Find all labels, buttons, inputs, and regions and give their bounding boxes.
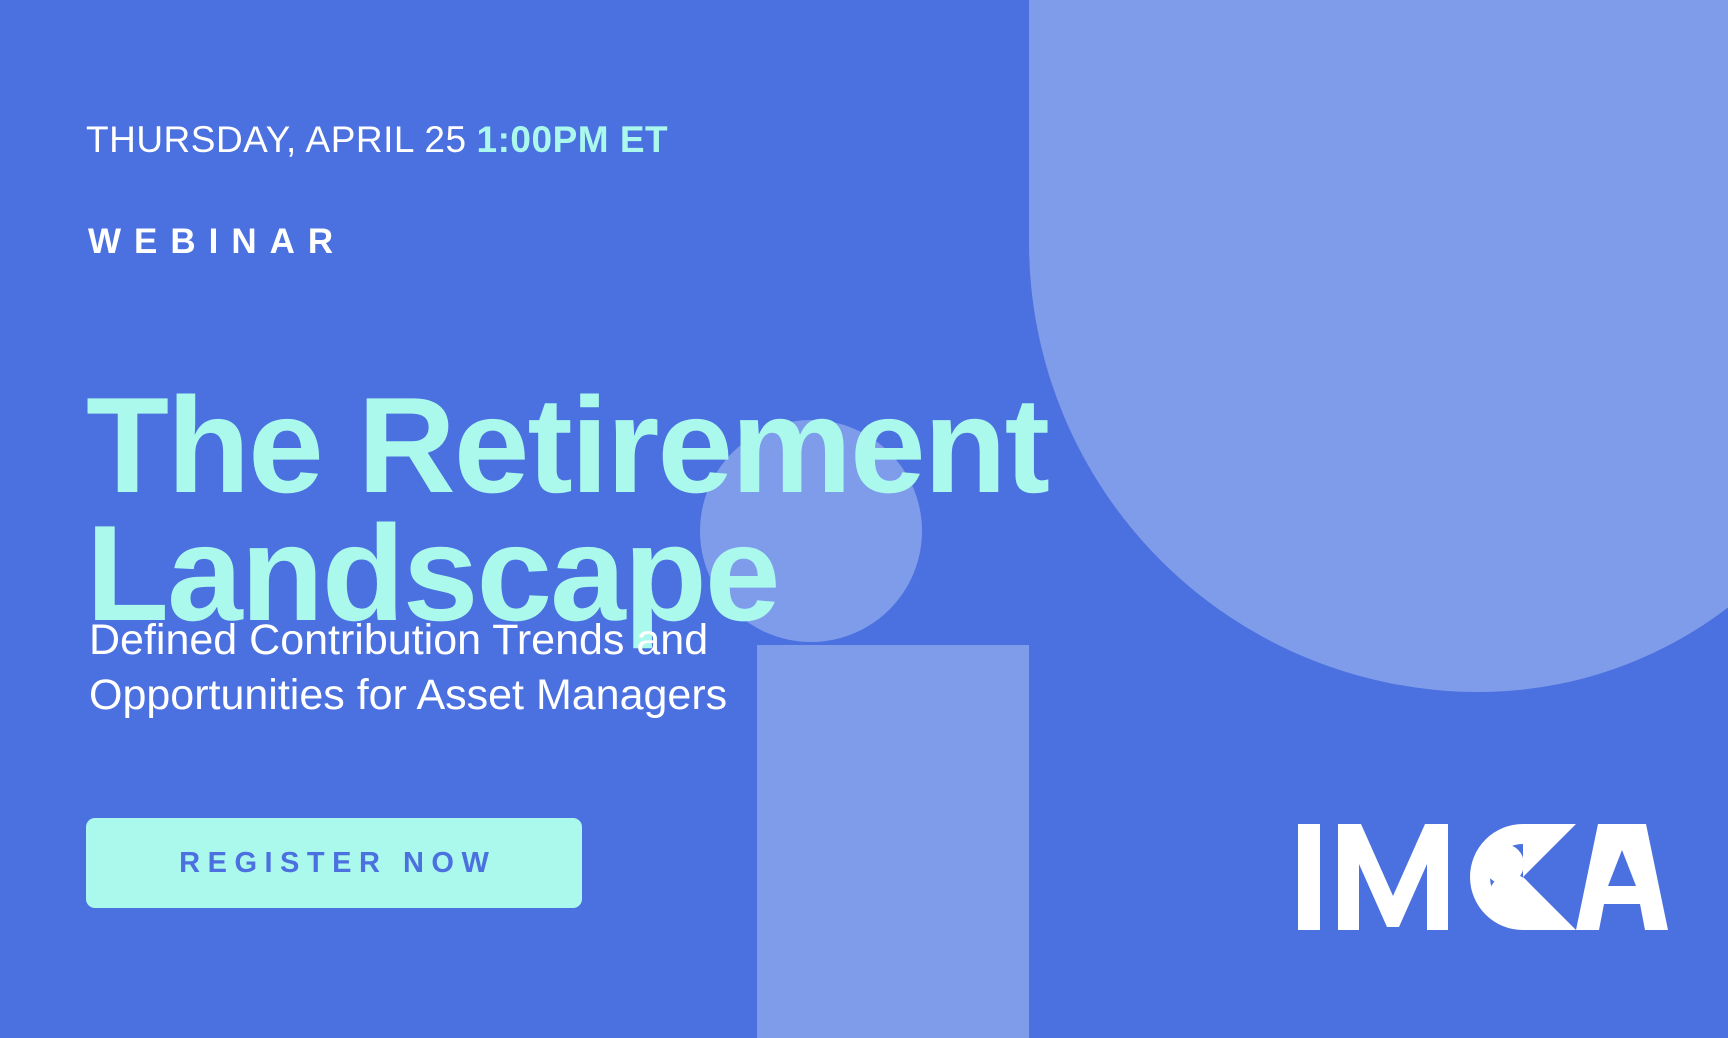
event-time: 1:00PM ET	[477, 119, 669, 160]
subtitle-line-2: Opportunities for Asset Managers	[89, 668, 727, 723]
eyebrow-label: WEBINAR	[88, 224, 346, 259]
event-date-line: THURSDAY, APRIL 251:00PM ET	[86, 121, 668, 158]
logo-monogram	[1470, 824, 1576, 930]
event-date: THURSDAY, APRIL 25	[86, 119, 467, 160]
headline-line-1: The Retirement	[86, 382, 1346, 510]
webinar-promo-banner: THURSDAY, APRIL 251:00PM ET WEBINAR The …	[0, 0, 1728, 1038]
register-now-label: REGISTER NOW	[172, 847, 497, 880]
register-now-button[interactable]: REGISTER NOW	[86, 818, 582, 908]
banner-content: THURSDAY, APRIL 251:00PM ET WEBINAR The …	[86, 0, 1286, 1038]
subtitle-line-1: Defined Contribution Trends and	[89, 613, 727, 668]
subtitle: Defined Contribution Trends and Opportun…	[89, 613, 727, 723]
imca-logo	[1298, 824, 1668, 930]
page-title: The Retirement Landscape	[86, 382, 1346, 638]
